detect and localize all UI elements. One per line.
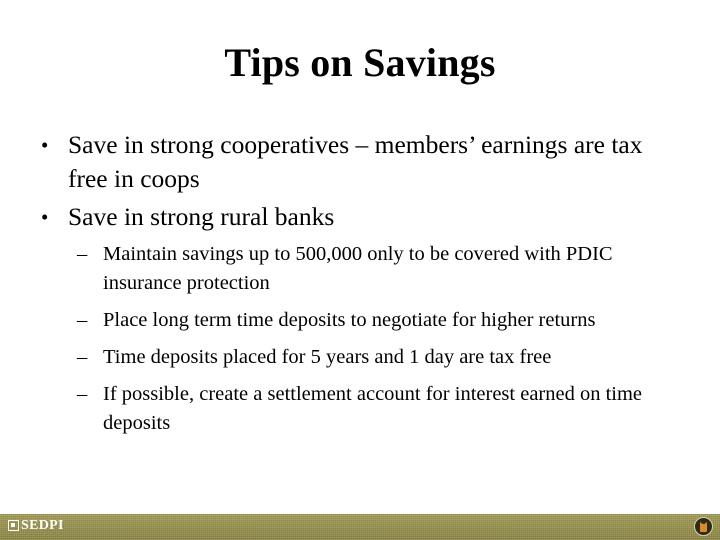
list-item-text: Save in strong rural banks <box>68 200 686 234</box>
list-item-text: Save in strong cooperatives – members’ e… <box>68 128 686 196</box>
slide-body: • Save in strong cooperatives – members’… <box>36 128 686 446</box>
page-title: Tips on Savings <box>0 40 720 86</box>
footer-bar: SEDPI <box>0 514 720 540</box>
sub-list-item-text: If possible, create a settlement account… <box>103 380 686 438</box>
list-item: • Save in strong rural banks <box>36 200 686 234</box>
bullet-dash-icon: – <box>77 240 87 269</box>
sedpi-logo-text: SEDPI <box>21 518 64 533</box>
bullet-dash-icon: – <box>77 306 87 335</box>
bullet-dot-icon: • <box>41 200 48 234</box>
sub-list-item-text: Maintain savings up to 500,000 only to b… <box>103 240 686 298</box>
bullet-dash-icon: – <box>77 343 87 372</box>
sub-list-item: – If possible, create a settlement accou… <box>71 380 686 438</box>
sub-list-item: – Place long term time deposits to negot… <box>71 306 686 335</box>
sedpi-logo: SEDPI <box>8 518 64 533</box>
circular-emblem-icon <box>694 517 713 536</box>
slide-canvas: Tips on Savings • Save in strong coopera… <box>0 0 720 540</box>
bullet-dash-icon: – <box>77 380 87 409</box>
bullet-dot-icon: • <box>41 128 48 162</box>
sub-list: – Maintain savings up to 500,000 only to… <box>36 240 686 438</box>
emblem-inner-shape <box>700 521 707 532</box>
sub-list-item-text: Time deposits placed for 5 years and 1 d… <box>103 343 686 372</box>
sub-list-item: – Maintain savings up to 500,000 only to… <box>71 240 686 298</box>
square-logo-icon <box>8 520 19 531</box>
sub-list-item: – Time deposits placed for 5 years and 1… <box>71 343 686 372</box>
list-item: • Save in strong cooperatives – members’… <box>36 128 686 196</box>
sub-list-item-text: Place long term time deposits to negotia… <box>103 306 686 335</box>
